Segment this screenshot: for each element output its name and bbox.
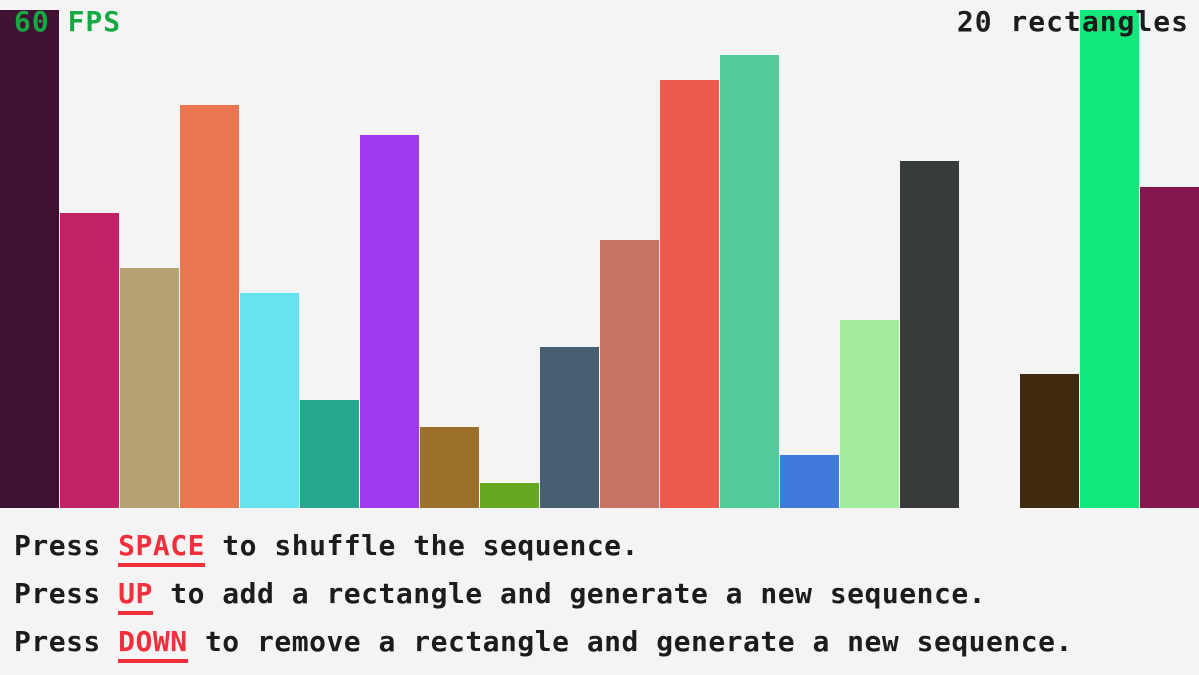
- instruction-prefix: Press: [14, 529, 118, 562]
- bar-rect: [480, 483, 539, 508]
- bar-rect: [1080, 10, 1139, 508]
- bar-rect: [0, 10, 59, 508]
- key-hint-up[interactable]: UP: [118, 577, 153, 615]
- bar-rect: [720, 55, 779, 508]
- bar-rect: [660, 80, 719, 508]
- bar-rect: [60, 213, 119, 508]
- instruction-prefix: Press: [14, 577, 118, 610]
- app-root: 60 FPS 20 rectangles Press SPACE to shuf…: [0, 0, 1199, 675]
- bar-rect: [300, 400, 359, 508]
- bar-rect: [120, 268, 179, 508]
- key-hint-down[interactable]: DOWN: [118, 625, 187, 663]
- bar-rect: [540, 347, 599, 508]
- bar-rect: [240, 293, 299, 508]
- key-hint-space[interactable]: SPACE: [118, 529, 205, 567]
- instruction-line: Press DOWN to remove a rectangle and gen…: [14, 618, 1199, 666]
- instruction-prefix: Press: [14, 625, 118, 658]
- rectangle-count-label: 20 rectangles: [957, 8, 1189, 36]
- fps-counter: 60 FPS: [14, 8, 121, 36]
- instruction-suffix: to remove a rectangle and generate a new…: [188, 625, 1073, 658]
- bar-rect: [840, 320, 899, 508]
- bar-rect: [780, 455, 839, 508]
- bar-rect: [1140, 187, 1199, 508]
- instruction-line: Press UP to add a rectangle and generate…: [14, 570, 1199, 618]
- bar-rect: [600, 240, 659, 508]
- bar-rect: [900, 161, 959, 508]
- bar-rect: [360, 135, 419, 508]
- bar-rect: [420, 427, 479, 508]
- instruction-suffix: to shuffle the sequence.: [205, 529, 639, 562]
- bar-chart-canvas[interactable]: [0, 0, 1199, 508]
- instruction-line: Press SPACE to shuffle the sequence.: [14, 522, 1199, 570]
- instruction-suffix: to add a rectangle and generate a new se…: [153, 577, 986, 610]
- bar-rect: [180, 105, 239, 508]
- instructions-panel: Press SPACE to shuffle the sequence.Pres…: [0, 508, 1199, 675]
- bar-rect: [1020, 374, 1079, 508]
